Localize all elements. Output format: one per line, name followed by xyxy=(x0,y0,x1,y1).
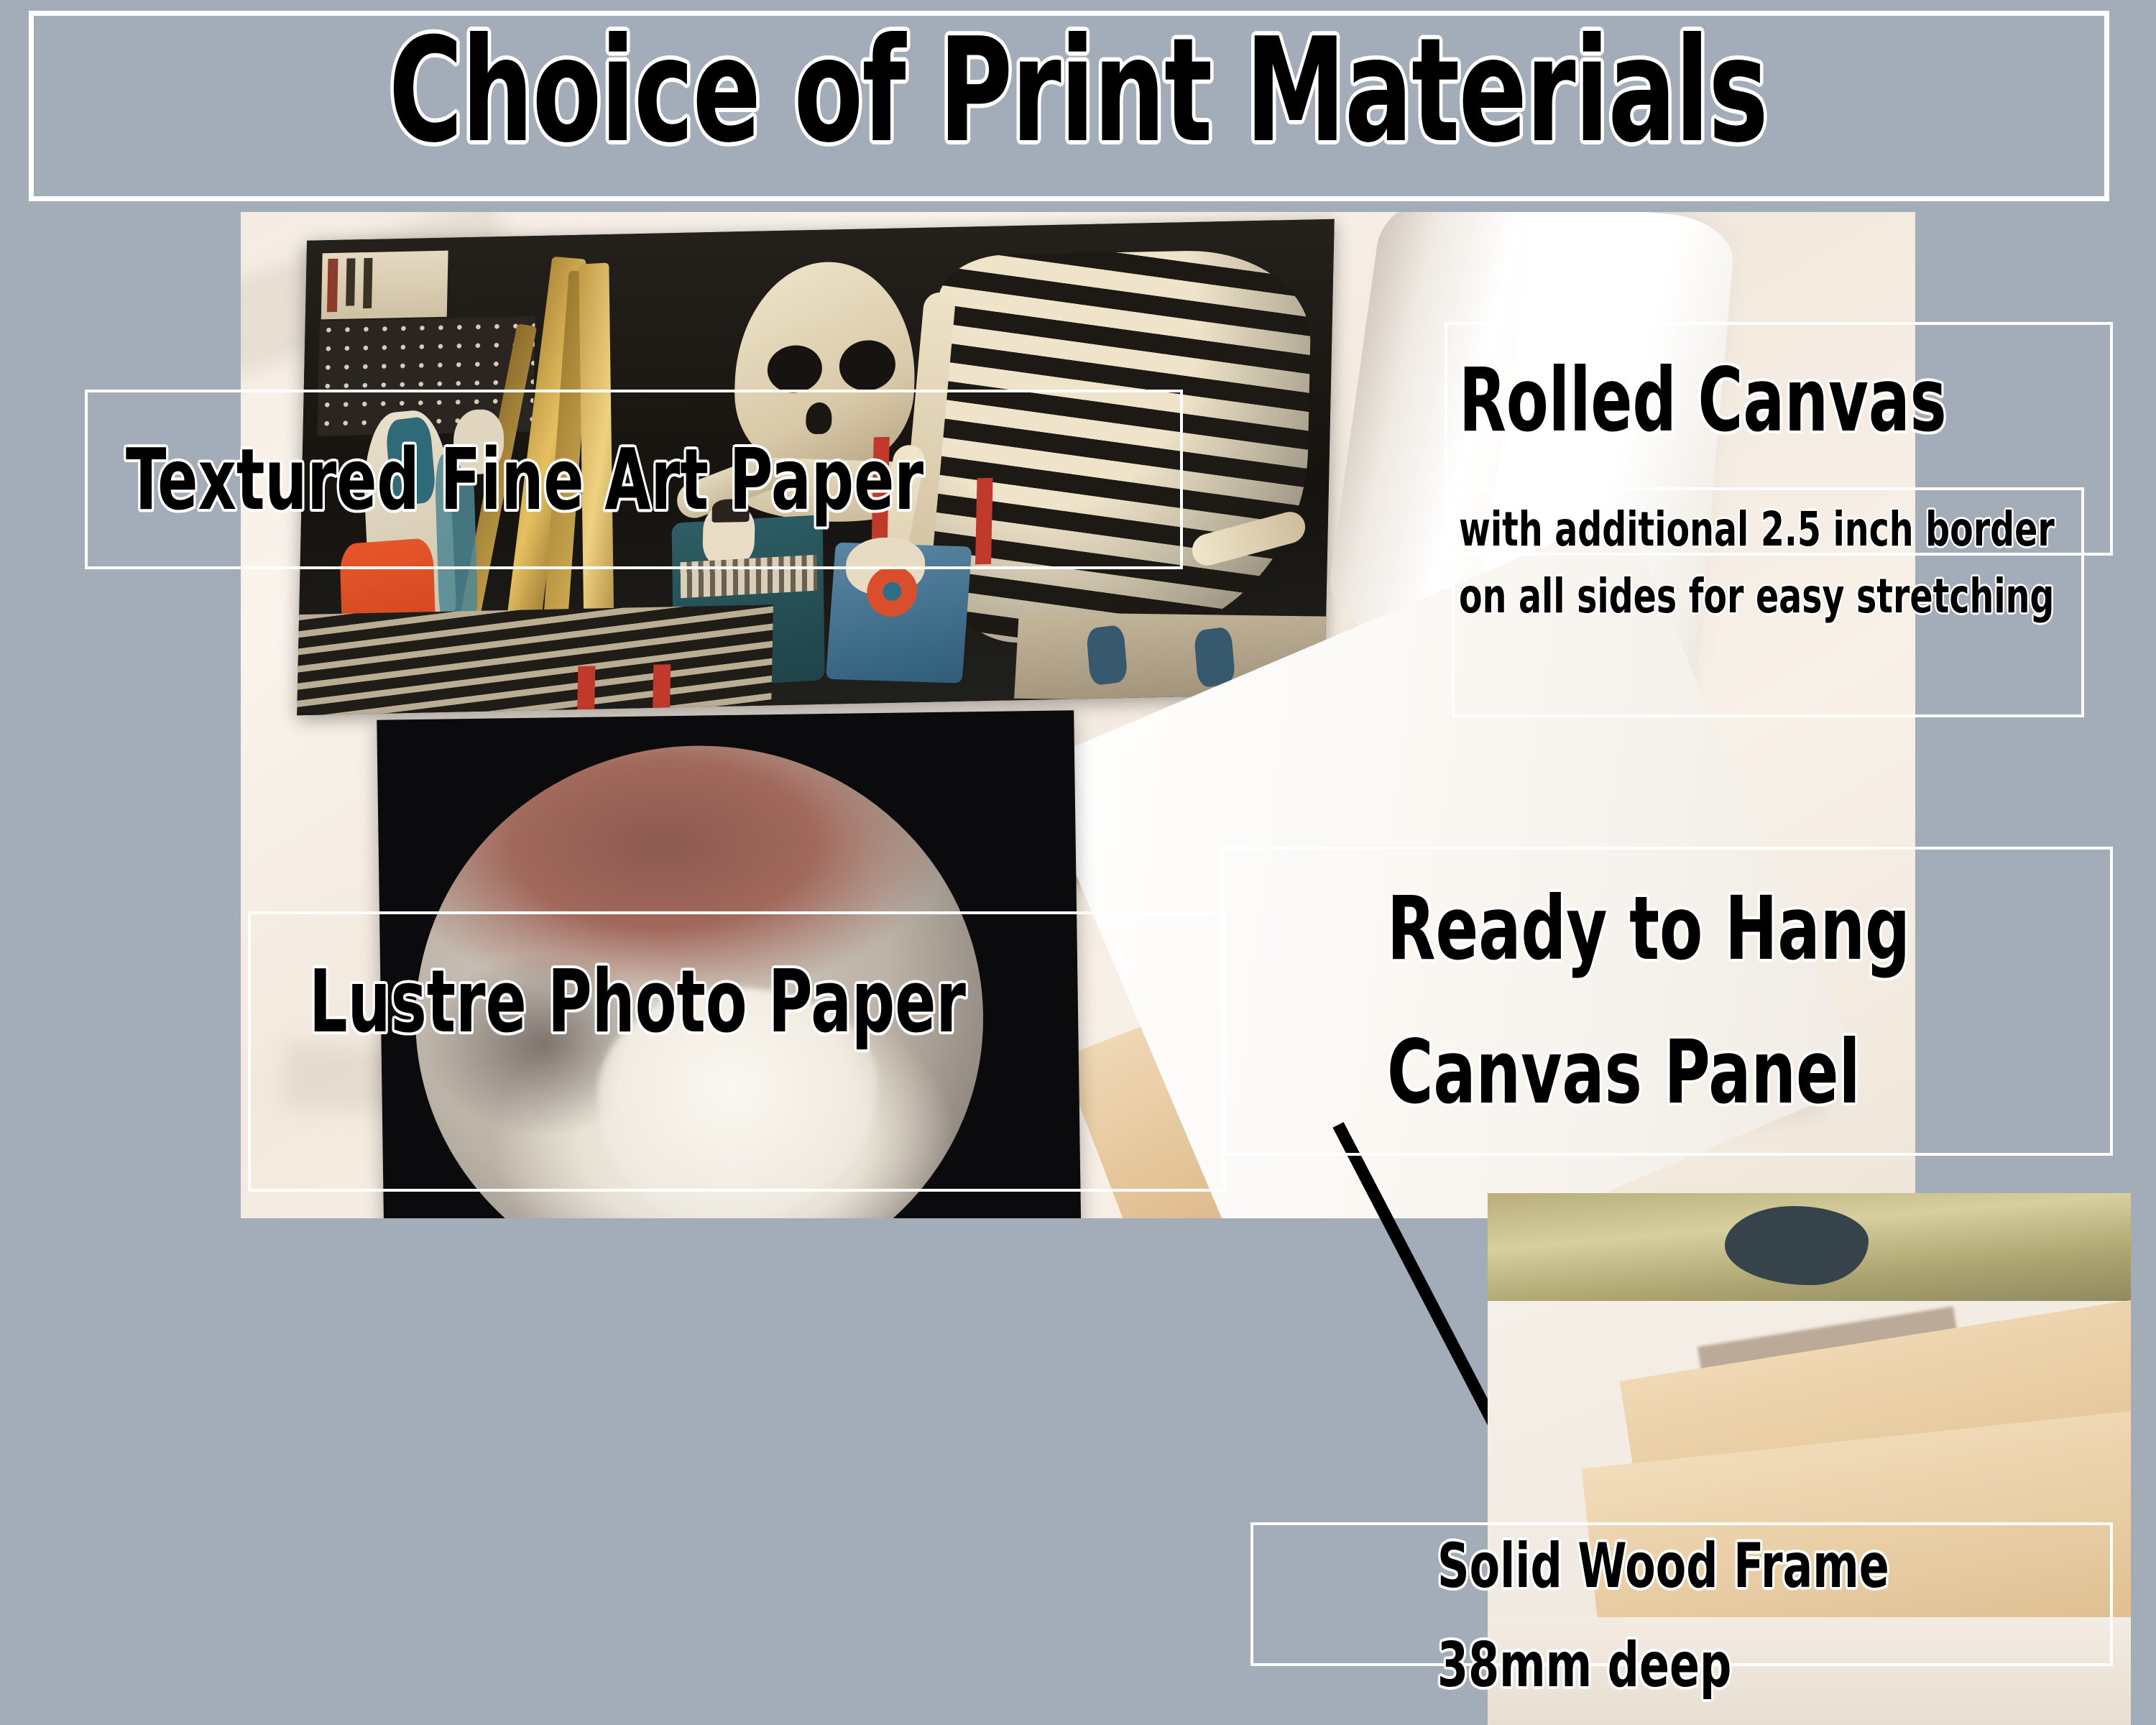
label-textured-fine-art-paper: Textured Fine Art Paper xyxy=(126,402,923,557)
label-ready-to-hang-line2: Canvas Panel xyxy=(1387,1000,1910,1144)
label-solid-wood-frame-line2: 38mm deep xyxy=(1437,1616,1889,1715)
inset-dark-blob xyxy=(1725,1206,1869,1285)
label-rolled-canvas-subtext: with additional 2.5 inch border on all s… xyxy=(1459,496,2034,630)
label-lustre-photo-paper: Lustre Photo Paper xyxy=(309,920,966,1085)
label-rolled-canvas-subtext-line1: with additional 2.5 inch border xyxy=(1459,496,2034,563)
label-solid-wood-frame-line1: Solid Wood Frame xyxy=(1437,1517,1889,1616)
label-rolled-canvas: Rolled Canvas xyxy=(1459,327,1947,474)
label-ready-to-hang-line1: Ready to Hang xyxy=(1387,857,1910,1000)
label-ready-to-hang-canvas-panel: Ready to Hang Canvas Panel xyxy=(1387,857,1910,1144)
page-title: Choice of Print Materials xyxy=(237,0,1919,187)
label-solid-wood-frame: Solid Wood Frame 38mm deep xyxy=(1437,1517,1889,1715)
label-rolled-canvas-subtext-line2: on all sides for easy stretching xyxy=(1459,563,2034,630)
inset-background-strip xyxy=(1488,1193,2131,1301)
